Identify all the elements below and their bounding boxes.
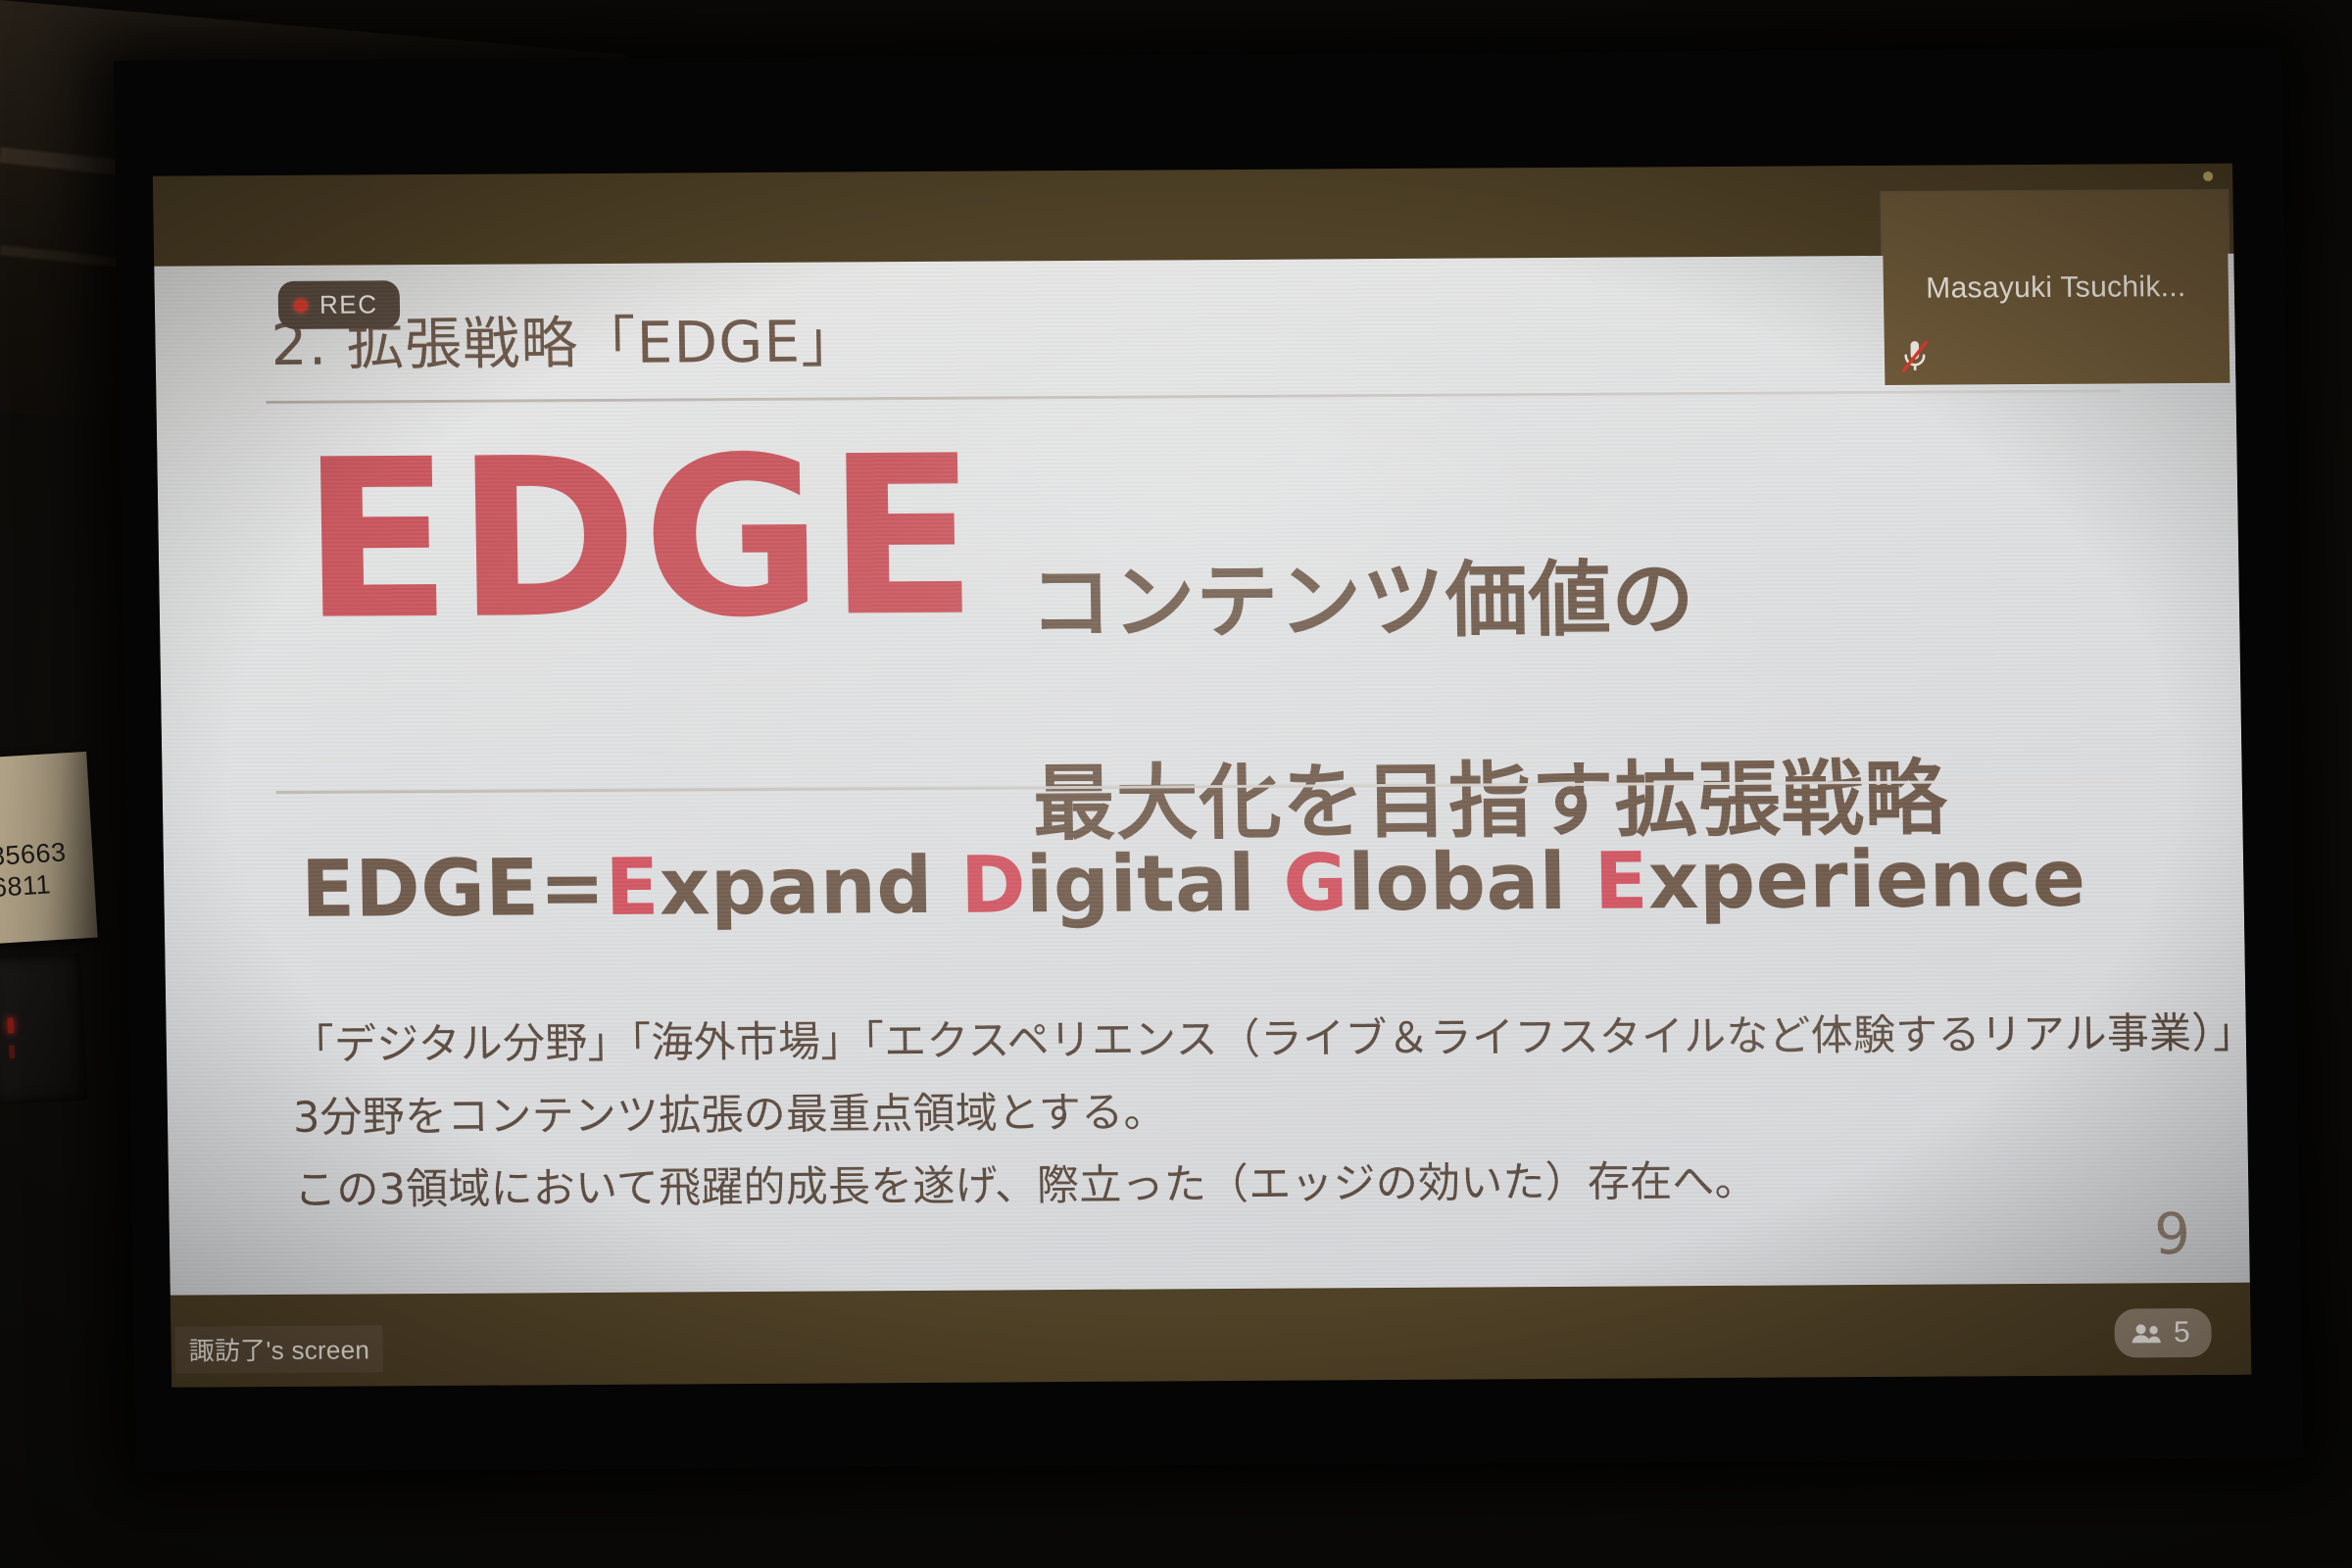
participant-video-tile[interactable]: Masayuki Tsuchik... (1882, 191, 2229, 385)
acronym-rest-expand: xpand (659, 840, 934, 933)
side-device (0, 954, 88, 1105)
people-icon (2131, 1321, 2164, 1345)
device-led-secondary-icon (9, 1045, 16, 1058)
acronym-initial-e2: E (1593, 835, 1649, 926)
hero-block: EDGE コンテンツ価値の 最大化を目指す拡張戦略 (300, 432, 2142, 688)
slide-page-number: 9 (2154, 1200, 2191, 1267)
acronym-rest-experience: xperience (1647, 833, 2086, 927)
presentation-slide: REC 2. 拡張戦略「EDGE」 EDGE コンテンツ価値の 最大化を目指す拡… (154, 254, 2250, 1296)
acronym-prefix: EDGE= (301, 842, 607, 935)
screen-owner-label: 諏訪了's screen (174, 1325, 383, 1373)
device-led-icon (7, 1017, 14, 1033)
side-paper-note: 585663 66811 (0, 752, 98, 944)
body-line-1: 「デジタル分野」「海外市場」「エクスペリエンス（ライブ＆ライフスタイルなど体験す… (291, 999, 2168, 1083)
acronym-initial-e1: E (605, 842, 661, 933)
body-line-2: 3分野をコンテンツ拡張の最重点領域とする。 (292, 1071, 2169, 1155)
recording-label: REC (319, 289, 378, 319)
acronym-line: EDGE=Expand Digital Global Experience (301, 832, 2157, 935)
share-indicator-dot-icon (2203, 171, 2213, 181)
acronym-initial-g: G (1283, 837, 1349, 928)
edge-wordmark: EDGE (300, 440, 983, 637)
shared-screen-surface: Masayuki Tsuchik... 諏訪了's screen 5 (153, 164, 2251, 1388)
title-divider (266, 389, 2120, 404)
slide-header: REC 2. 拡張戦略「EDGE」 (270, 288, 2118, 389)
participant-name-label: Masayuki Tsuchik... (1926, 270, 2186, 306)
participants-count-value: 5 (2174, 1316, 2190, 1349)
acronym-initial-d: D (959, 839, 1026, 930)
projection-screen: Masayuki Tsuchik... 諏訪了's screen 5 (114, 47, 2304, 1471)
mic-muted-icon (1898, 338, 1933, 375)
acronym-rest-global: lobal (1347, 836, 1568, 928)
hero-japanese-line-1: コンテンツ価値の (1029, 552, 1695, 652)
recording-dot-icon (294, 298, 308, 312)
slide-body-text: 「デジタル分野」「海外市場」「エクスペリエンス（ライブ＆ライフスタイルなど体験す… (291, 999, 2171, 1228)
participants-count-pill[interactable]: 5 (2115, 1308, 2212, 1358)
recording-badge: REC (278, 280, 400, 329)
hero-japanese-subtitle: コンテンツ価値の 最大化を目指す拡張戦略 (1027, 448, 1948, 856)
body-line-3: この3領域において飛躍的成長を遂げ、際立った（エッジの効いた）存在へ。 (294, 1144, 2171, 1228)
slide-title: 2. 拡張戦略「EDGE」 (270, 288, 2118, 381)
acronym-rest-digital: igital (1025, 838, 1256, 930)
paper-number-line-2: 66811 (0, 867, 95, 906)
